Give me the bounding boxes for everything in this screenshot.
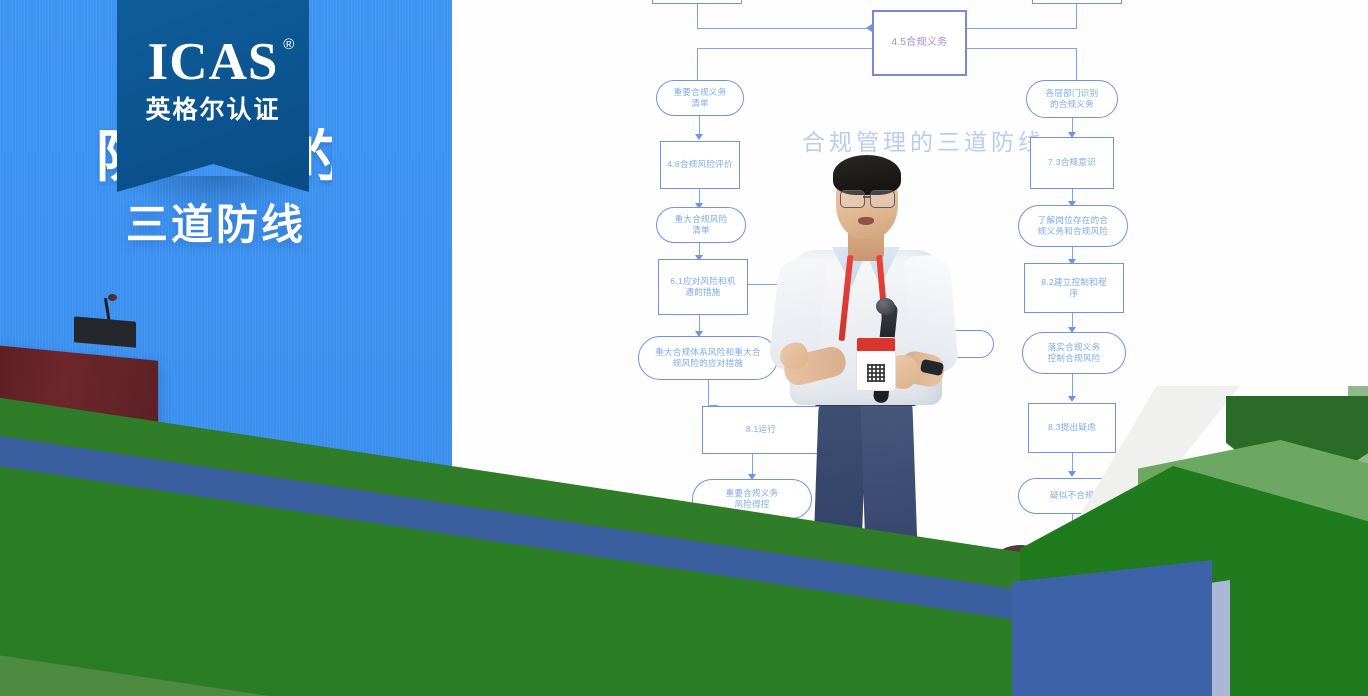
screenshot-canvas: 防 的 合规管理的三道防线 4.5合规义务 重要合规义务 清单 4.6合规风险评… [0,0,1368,696]
flow-connector [708,380,709,406]
icas-logo-banner: ICAS ® 英格尔认证 [117,0,309,192]
slide-title: 合规管理的三道防线 [802,123,1045,157]
flow-node-risk-opportunity-measures: 6.1应对风险和机 遇的措施 [658,259,748,315]
glasses-icon [870,190,895,208]
registered-trademark-icon: ® [283,37,295,52]
flow-node-implement-obligations: 落实合规义务 控制合规风险 [1022,332,1126,374]
flow-node-major-response-measures: 重大合规体系风险和重大合 规风险的应对措施 [638,336,778,380]
qr-code-icon [867,364,885,382]
podium-microphone-head-icon [108,294,117,301]
icas-wordmark: ICAS ® [148,36,279,89]
flow-node-compliance-awareness: 7.3合规意识 [1030,137,1114,189]
podium-top-surface [74,316,136,347]
flow-node-establish-controls: 8.2建立控制和程 序 [1024,263,1124,313]
wall-slide-headline: 三道防线 [126,204,306,246]
flow-arrow-icon [695,134,703,140]
flow-connector [1076,0,1077,28]
speaker-hair [833,155,901,195]
icas-wordmark-text: ICAS [148,33,279,91]
icas-chinese-name: 英格尔认证 [117,98,309,123]
flow-node-risk-assessment: 4.6合规风险评价 [660,141,740,189]
glasses-icon [840,190,865,208]
flow-node-compliance-obligation: 4.5合规义务 [872,10,967,76]
flow-connector [697,48,872,49]
graphic-panel-blue [1012,560,1212,696]
flow-node-raise-concerns: 8.3提出疑虑 [1028,403,1116,453]
flow-node-top-left [652,0,742,4]
flow-arrow-icon [1068,471,1076,477]
glasses-bridge-icon [863,196,870,198]
flow-arrow-icon [1068,396,1076,402]
badge-header-bar [857,338,895,351]
flow-connector [697,28,872,29]
name-badge [856,337,896,391]
flow-node-major-risk-list: 重大合规风险 清单 [656,207,746,243]
flow-node-department-obligations: 各层部门识别 的合规义务 [1026,80,1118,118]
flow-node-important-obligation-list: 重要合规义务 清单 [656,80,744,116]
speaker-mouth [858,217,874,225]
flow-node-top-right [1032,0,1122,4]
flow-connector [697,0,698,28]
flow-node-post-obligations-risks: 了解岗位存在的合 规义务和合规风险 [1018,205,1128,247]
